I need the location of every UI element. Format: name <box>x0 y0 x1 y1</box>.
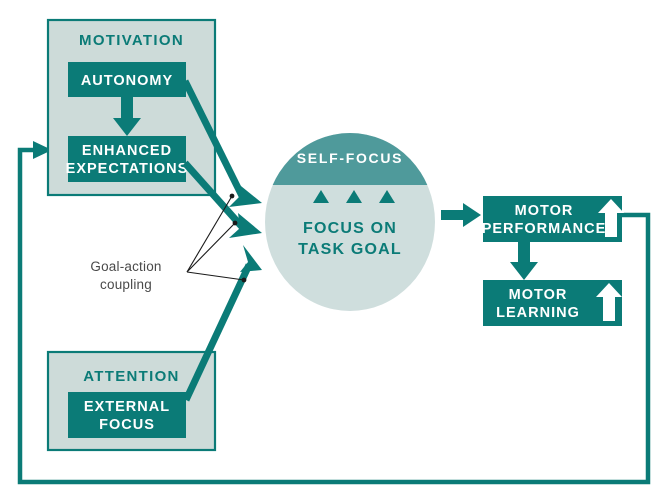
arrow-motor-performance-to-motor-learning <box>510 242 538 280</box>
goal-action-coupling-leaders <box>187 194 246 283</box>
goal-action-coupling-annotation: Goal-action coupling <box>90 259 161 292</box>
diagram-canvas: MOTIVATION AUTONOMY ENHANCED EXPECTATION… <box>0 0 669 502</box>
arrow-external-focus-to-circle <box>186 245 262 400</box>
box-motor-learning-label-line1: MOTOR <box>509 287 568 303</box>
box-autonomy[interactable]: AUTONOMY <box>68 62 186 97</box>
box-motor-performance-label-line1: MOTOR <box>515 203 574 219</box>
goal-action-coupling-line1: Goal-action <box>90 259 161 274</box>
box-external-focus-label-line2: FOCUS <box>99 417 155 433</box>
flow-diagram: MOTIVATION AUTONOMY ENHANCED EXPECTATION… <box>0 0 669 502</box>
arrow-circle-to-motor-performance <box>441 203 481 227</box>
box-external-focus-label-line1: EXTERNAL <box>84 399 170 415</box>
leader-dot-1 <box>230 194 235 199</box>
circle-bottom-label-line2: TASK GOAL <box>298 241 402 258</box>
box-autonomy-label: AUTONOMY <box>81 73 173 89</box>
circle-bottom-label-line1: FOCUS ON <box>303 220 397 237</box>
leader-dot-2 <box>233 221 238 226</box>
panel-attention-title: ATTENTION <box>83 368 179 385</box>
arrow-external-focus-to-circle-line <box>186 265 249 400</box>
arrow-external-focus-to-circle-head <box>240 245 262 272</box>
leader-dot-3 <box>242 278 247 283</box>
box-motor-performance[interactable]: MOTOR PERFORMANCE <box>482 196 624 242</box>
box-external-focus[interactable]: EXTERNAL FOCUS <box>68 392 186 438</box>
circle-top-label: SELF-FOCUS <box>297 150 403 166</box>
arrow-motor-performance-to-motor-learning-shape <box>510 242 538 280</box>
box-enhanced-expectations-label-line1: ENHANCED <box>82 143 172 159</box>
leader-line-1 <box>187 196 232 272</box>
leader-line-3 <box>187 272 244 280</box>
goal-action-coupling-line2: coupling <box>100 277 152 292</box>
box-motor-performance-label-line2: PERFORMANCE <box>482 221 607 237</box>
box-enhanced-expectations-label-line2: EXPECTATIONS <box>66 161 189 177</box>
box-motor-learning[interactable]: MOTOR LEARNING <box>483 280 622 326</box>
arrow-circle-to-motor-performance-shape <box>441 203 481 227</box>
box-motor-learning-label-line2: LEARNING <box>496 305 580 321</box>
box-enhanced-expectations[interactable]: ENHANCED EXPECTATIONS <box>66 136 189 182</box>
self-focus-circle[interactable]: SELF-FOCUS FOCUS ON TASK GOAL <box>265 133 435 311</box>
leader-line-2 <box>187 223 235 272</box>
panel-motivation-title: MOTIVATION <box>79 32 184 49</box>
